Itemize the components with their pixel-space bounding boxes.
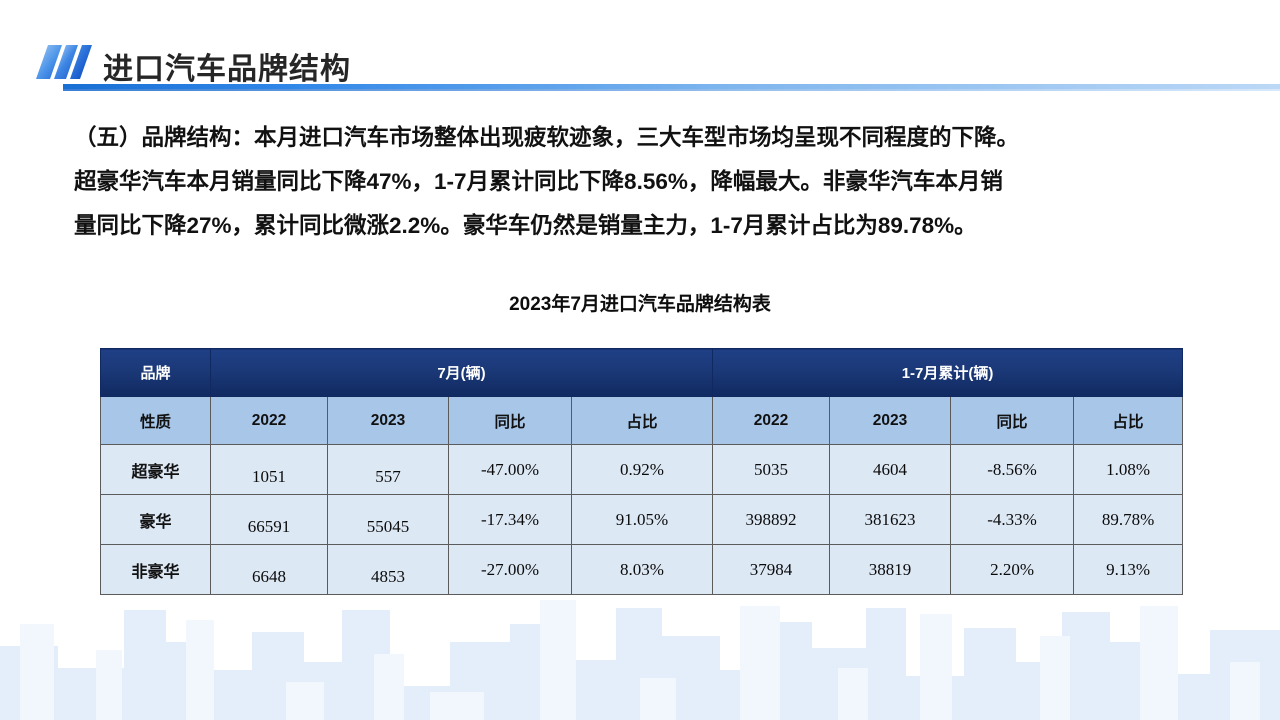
- subheader-cum-yoy: 同比: [951, 397, 1074, 445]
- subheader-nature: 性质: [101, 397, 211, 445]
- cell-cum-2022: 37984: [713, 545, 830, 595]
- table-row: 豪华 66591 55045 -17.34% 91.05% 398892 381…: [101, 495, 1183, 545]
- brand-structure-table: 品牌 7月(辆) 1-7月累计(辆) 性质 2022 2023 同比 占比 20…: [100, 348, 1182, 595]
- row-label: 超豪华: [101, 445, 211, 495]
- summary-line-3: 量同比下降27%，累计同比微涨2.2%。豪华车仍然是销量主力，1-7月累计占比为…: [74, 204, 1214, 248]
- header-month-group: 7月(辆): [211, 349, 713, 397]
- cell-cum-yoy: 2.20%: [951, 545, 1074, 595]
- cell-month-2023: 4853: [328, 545, 449, 595]
- cell-month-share: 91.05%: [572, 495, 713, 545]
- cell-month-yoy: -17.34%: [449, 495, 572, 545]
- table-row: 非豪华 6648 4853 -27.00% 8.03% 37984 38819 …: [101, 545, 1183, 595]
- cell-cum-2022: 398892: [713, 495, 830, 545]
- table-group-header-row: 品牌 7月(辆) 1-7月累计(辆): [101, 349, 1183, 397]
- table-row: 超豪华 1051 557 -47.00% 0.92% 5035 4604 -8.…: [101, 445, 1183, 495]
- cell-cum-2023: 38819: [830, 545, 951, 595]
- subheader-month-2023: 2023: [328, 397, 449, 445]
- cell-cum-yoy: -4.33%: [951, 495, 1074, 545]
- cell-month-2023: 557: [328, 445, 449, 495]
- cell-month-2023: 55045: [328, 495, 449, 545]
- subheader-month-yoy: 同比: [449, 397, 572, 445]
- cell-month-share: 8.03%: [572, 545, 713, 595]
- cell-month-yoy: -27.00%: [449, 545, 572, 595]
- subheader-cum-2023: 2023: [830, 397, 951, 445]
- title-underline-thin: [63, 89, 1280, 91]
- cell-month-yoy: -47.00%: [449, 445, 572, 495]
- cell-cum-2022: 5035: [713, 445, 830, 495]
- subheader-cum-2022: 2022: [713, 397, 830, 445]
- cell-month-share: 0.92%: [572, 445, 713, 495]
- summary-paragraph: （五）品牌结构：本月进口汽车市场整体出现疲软迹象，三大车型市场均呈现不同程度的下…: [74, 116, 1214, 248]
- cell-cum-2023: 4604: [830, 445, 951, 495]
- cell-cum-yoy: -8.56%: [951, 445, 1074, 495]
- summary-line-2: 超豪华汽车本月销量同比下降47%，1-7月累计同比下降8.56%，降幅最大。非豪…: [74, 160, 1214, 204]
- table-caption: 2023年7月进口汽车品牌结构表: [0, 289, 1280, 316]
- header-brand: 品牌: [101, 349, 211, 397]
- row-label: 非豪华: [101, 545, 211, 595]
- table-sub-header-row: 性质 2022 2023 同比 占比 2022 2023 同比 占比: [101, 397, 1183, 445]
- subheader-month-share: 占比: [572, 397, 713, 445]
- cell-month-2022: 66591: [211, 495, 328, 545]
- page-header: 进口汽车品牌结构: [0, 0, 1280, 92]
- cell-cum-share: 9.13%: [1074, 545, 1183, 595]
- cell-month-2022: 6648: [211, 545, 328, 595]
- triple-slash-logo-icon: [22, 45, 92, 79]
- cell-month-2022: 1051: [211, 445, 328, 495]
- header-cumulative-group: 1-7月累计(辆): [713, 349, 1183, 397]
- page-title: 进口汽车品牌结构: [103, 44, 351, 88]
- subheader-month-2022: 2022: [211, 397, 328, 445]
- cell-cum-2023: 381623: [830, 495, 951, 545]
- cell-cum-share: 1.08%: [1074, 445, 1183, 495]
- row-label: 豪华: [101, 495, 211, 545]
- cell-cum-share: 89.78%: [1074, 495, 1183, 545]
- summary-line-1: （五）品牌结构：本月进口汽车市场整体出现疲软迹象，三大车型市场均呈现不同程度的下…: [74, 116, 1214, 160]
- subheader-cum-share: 占比: [1074, 397, 1183, 445]
